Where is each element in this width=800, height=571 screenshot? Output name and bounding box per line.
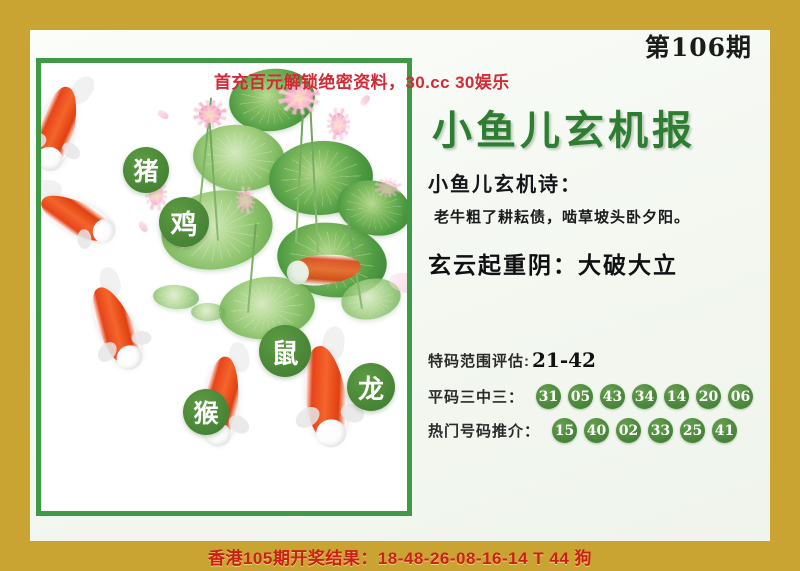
zodiac-circle-monkey[interactable]: 猴 <box>183 389 229 435</box>
petal <box>137 220 149 234</box>
petal <box>156 108 170 121</box>
petal <box>358 94 371 107</box>
number-ball[interactable]: 06 <box>728 384 753 409</box>
range-label: 特码范围评估: <box>428 350 530 371</box>
border-pattern-bottom <box>0 541 800 571</box>
hot-numbers-label: 热门号码推介： <box>428 420 540 441</box>
zodiac-label: 猴 <box>193 394 218 430</box>
number-ball[interactable]: 14 <box>664 384 689 409</box>
promo-banner-text[interactable]: 首充百元解锁绝密资料，30.cc 30娱乐 <box>214 68 510 93</box>
number-ball[interactable]: 41 <box>712 418 737 443</box>
illustration-canvas: 猪 鸡 鼠 龙 猴 <box>41 63 407 511</box>
three-of-three-label: 平码三中三： <box>428 386 524 407</box>
zodiac-circle-pig[interactable]: 猪 <box>123 147 169 193</box>
lotus-bud <box>379 181 397 194</box>
lily-pad <box>191 303 225 321</box>
lotus-bud <box>239 191 252 209</box>
number-ball[interactable]: 05 <box>568 384 593 409</box>
number-ball[interactable]: 02 <box>616 418 641 443</box>
number-ball[interactable]: 20 <box>696 384 721 409</box>
number-ball[interactable]: 33 <box>648 418 673 443</box>
zodiac-label: 鸡 <box>171 203 198 242</box>
page-title: 小鱼儿玄机报 <box>432 98 696 156</box>
zodiac-label: 龙 <box>358 369 384 406</box>
number-ball[interactable]: 40 <box>584 418 609 443</box>
border-pattern-top <box>0 0 800 30</box>
number-ball[interactable]: 15 <box>552 418 577 443</box>
three-of-three-row: 平码三中三： 31 05 43 34 14 20 06 <box>428 384 753 409</box>
lotus-bud <box>331 113 346 135</box>
hot-numbers-list: 15 40 02 33 25 41 <box>545 418 737 443</box>
border-pattern-right <box>770 0 800 571</box>
poem-keyphrase: 玄云起重阴：大破大立 <box>428 246 678 280</box>
number-ball[interactable]: 25 <box>680 418 705 443</box>
range-value: 21-42 <box>532 348 596 372</box>
poem-line: 老牛粗了耕耘债，啮草坡头卧夕阳。 <box>434 206 690 227</box>
issue-number: 第106期 <box>645 28 752 64</box>
border-pattern-left <box>0 0 30 571</box>
xiaoyuer-xuanji-poster: 猪 鸡 鼠 龙 猴 第106期 首充百元解锁绝密资料，30.cc 30娱乐 小鱼… <box>0 0 800 571</box>
poem-heading: 小鱼儿玄机诗： <box>428 168 582 197</box>
zodiac-circle-rooster[interactable]: 鸡 <box>159 197 209 247</box>
number-ball[interactable]: 43 <box>600 384 625 409</box>
illustration-frame: 猪 鸡 鼠 龙 猴 <box>36 58 412 516</box>
number-ball[interactable]: 31 <box>536 384 561 409</box>
koi-fin <box>132 331 152 345</box>
number-ball[interactable]: 34 <box>632 384 657 409</box>
three-of-three-numbers: 31 05 43 34 14 20 06 <box>529 384 753 409</box>
range-row: 特码范围评估: 21-42 <box>428 348 596 372</box>
zodiac-label: 猪 <box>133 152 158 188</box>
zodiac-circle-rat[interactable]: 鼠 <box>259 325 311 377</box>
zodiac-circle-dragon[interactable]: 龙 <box>347 363 395 411</box>
hot-numbers-row: 热门号码推介： 15 40 02 33 25 41 <box>428 418 737 443</box>
lotus-flower <box>199 105 221 123</box>
zodiac-label: 鼠 <box>272 332 299 371</box>
